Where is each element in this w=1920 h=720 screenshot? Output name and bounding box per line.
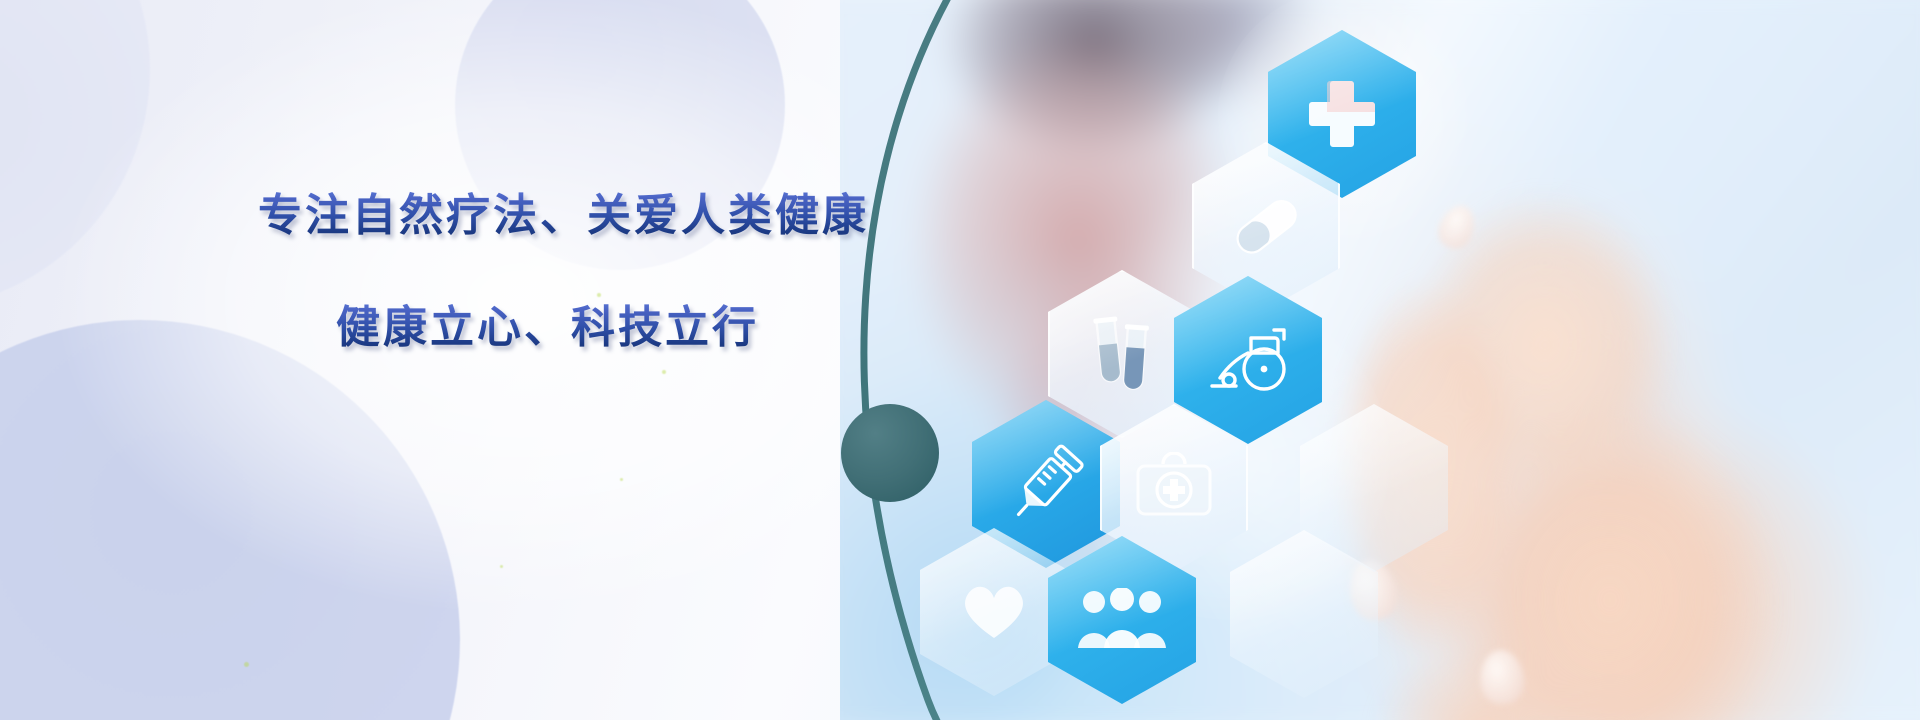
hand-gesture	[1310, 130, 1780, 720]
doctor-photo-panel	[840, 0, 1920, 720]
headline-line-2: 健康立心、科技立行	[336, 300, 759, 356]
hero-banner: 专注自然疗法、关爱人类健康 健康立心、科技立行	[0, 0, 1920, 720]
headline-line-1: 专注自然疗法、关爱人类健康	[258, 188, 869, 244]
headline-copy-block: 专注自然疗法、关爱人类健康 健康立心、科技立行	[0, 0, 840, 720]
